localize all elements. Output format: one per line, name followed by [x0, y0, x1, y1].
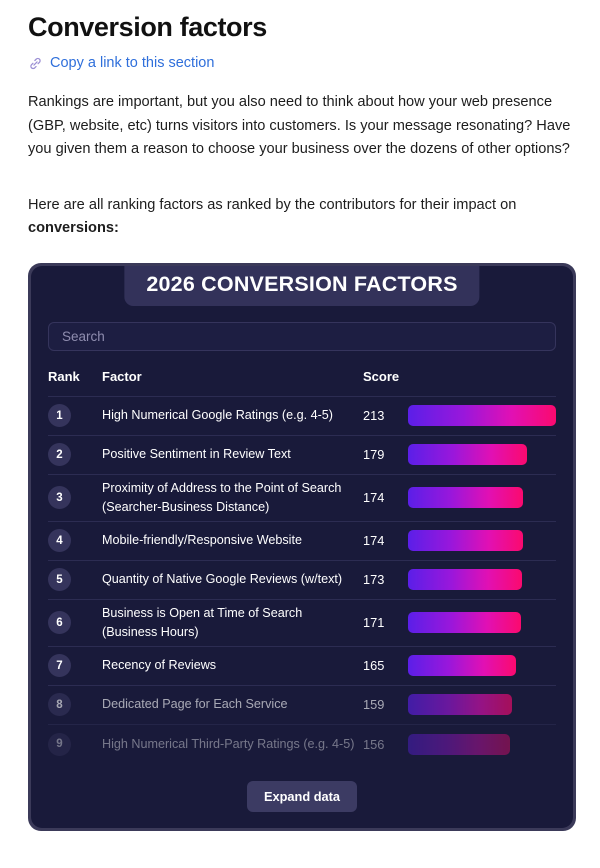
- column-header-score: Score: [363, 369, 408, 384]
- score-value: 213: [363, 408, 408, 423]
- table-row[interactable]: 9High Numerical Third-Party Ratings (e.g…: [48, 725, 556, 764]
- score-bar-fill: [408, 487, 523, 508]
- rank-cell: 6: [48, 611, 102, 634]
- factor-label: High Numerical Third-Party Ratings (e.g.…: [102, 735, 355, 754]
- score-value: 174: [363, 490, 408, 505]
- score-bar-track: [408, 612, 556, 633]
- copy-link-label[interactable]: Copy a link to this section: [50, 54, 214, 72]
- factor-label: Positive Sentiment in Review Text: [102, 445, 355, 464]
- rank-cell: 8: [48, 693, 102, 716]
- expand-data-area: Expand data: [31, 781, 573, 812]
- factor-cell: Mobile-friendly/Responsive Website: [102, 531, 363, 550]
- score-bar-fill: [408, 734, 510, 755]
- rank-badge: 7: [48, 654, 71, 677]
- factor-label: Dedicated Page for Each Service: [102, 695, 355, 714]
- score-value: 173: [363, 572, 408, 587]
- conversion-factors-widget: 2026 CONVERSION FACTORS Rank Factor Scor…: [28, 263, 576, 831]
- score-bar-track: [408, 655, 556, 676]
- factor-label: High Numerical Google Ratings (e.g. 4-5): [102, 406, 355, 425]
- rank-badge: 8: [48, 693, 71, 716]
- rank-cell: 5: [48, 568, 102, 591]
- score-bar-fill: [408, 569, 522, 590]
- score-bar-track: [408, 694, 556, 715]
- score-value: 171: [363, 615, 408, 630]
- score-value: 165: [363, 658, 408, 673]
- table-row[interactable]: 5Quantity of Native Google Reviews (w/te…: [48, 561, 556, 600]
- table-row[interactable]: 7Recency of Reviews165: [48, 647, 556, 686]
- rank-badge: 5: [48, 568, 71, 591]
- score-bar-track: [408, 444, 556, 465]
- score-value: 159: [363, 697, 408, 712]
- link-icon: [28, 56, 43, 71]
- score-bar-track: [408, 530, 556, 551]
- column-header-factor: Factor: [102, 369, 363, 384]
- rank-badge: 9: [48, 733, 71, 756]
- score-bar-track: [408, 405, 556, 426]
- expand-data-button[interactable]: Expand data: [247, 781, 357, 812]
- table-row[interactable]: 6Business is Open at Time of Search (Bus…: [48, 600, 556, 647]
- score-bar-track: [408, 487, 556, 508]
- widget-panel: 2026 CONVERSION FACTORS Rank Factor Scor…: [31, 266, 573, 828]
- factor-label: Recency of Reviews: [102, 656, 355, 675]
- column-header-rank: Rank: [48, 369, 102, 384]
- copy-link-to-section[interactable]: Copy a link to this section: [28, 54, 572, 72]
- rank-badge: 3: [48, 486, 71, 509]
- lead-in-paragraph: Here are all ranking factors as ranked b…: [28, 194, 572, 241]
- factor-cell: Quantity of Native Google Reviews (w/tex…: [102, 570, 363, 589]
- factor-label: Quantity of Native Google Reviews (w/tex…: [102, 570, 355, 589]
- rank-cell: 9: [48, 733, 102, 756]
- rank-cell: 2: [48, 443, 102, 466]
- factor-cell: Business is Open at Time of Search (Busi…: [102, 604, 363, 642]
- factor-cell: Positive Sentiment in Review Text: [102, 445, 363, 464]
- lead-in-text: Here are all ranking factors as ranked b…: [28, 197, 516, 213]
- factors-table: Rank Factor Score 1High Numerical Google…: [48, 369, 556, 764]
- factor-cell: Recency of Reviews: [102, 656, 363, 675]
- factor-cell: Dedicated Page for Each Service: [102, 695, 363, 714]
- factor-label: Business is Open at Time of Search (Busi…: [102, 604, 355, 642]
- factor-cell: High Numerical Third-Party Ratings (e.g.…: [102, 735, 363, 754]
- widget-title: 2026 CONVERSION FACTORS: [124, 266, 479, 306]
- factor-cell: Proximity of Address to the Point of Sea…: [102, 479, 363, 517]
- rank-cell: 1: [48, 404, 102, 427]
- score-value: 174: [363, 533, 408, 548]
- score-bar-fill: [408, 694, 512, 715]
- score-bar-fill: [408, 405, 556, 426]
- table-body: 1High Numerical Google Ratings (e.g. 4-5…: [48, 397, 556, 764]
- score-bar-fill: [408, 530, 523, 551]
- table-header-row: Rank Factor Score: [48, 369, 556, 397]
- article-page: Conversion factors Copy a link to this s…: [0, 10, 600, 831]
- score-value: 156: [363, 737, 408, 752]
- intro-paragraph: Rankings are important, but you also nee…: [28, 91, 572, 162]
- score-bar-fill: [408, 655, 516, 676]
- rank-badge: 2: [48, 443, 71, 466]
- table-row[interactable]: 8Dedicated Page for Each Service159: [48, 686, 556, 725]
- factor-label: Mobile-friendly/Responsive Website: [102, 531, 355, 550]
- score-bar-track: [408, 569, 556, 590]
- score-bar-fill: [408, 612, 521, 633]
- rank-badge: 4: [48, 529, 71, 552]
- lead-in-emphasis: conversions:: [28, 220, 119, 236]
- page-title: Conversion factors: [28, 10, 572, 44]
- rank-badge: 1: [48, 404, 71, 427]
- score-bar-track: [408, 734, 556, 755]
- rank-cell: 4: [48, 529, 102, 552]
- factor-cell: High Numerical Google Ratings (e.g. 4-5): [102, 406, 363, 425]
- rank-cell: 3: [48, 486, 102, 509]
- score-value: 179: [363, 447, 408, 462]
- table-row[interactable]: 4Mobile-friendly/Responsive Website174: [48, 522, 556, 561]
- search-input[interactable]: [60, 328, 544, 345]
- table-row[interactable]: 2Positive Sentiment in Review Text179: [48, 436, 556, 475]
- score-bar-fill: [408, 444, 527, 465]
- rank-badge: 6: [48, 611, 71, 634]
- rank-cell: 7: [48, 654, 102, 677]
- factor-label: Proximity of Address to the Point of Sea…: [102, 479, 355, 517]
- table-row[interactable]: 3Proximity of Address to the Point of Se…: [48, 475, 556, 522]
- table-row[interactable]: 1High Numerical Google Ratings (e.g. 4-5…: [48, 397, 556, 436]
- search-box[interactable]: [48, 322, 556, 351]
